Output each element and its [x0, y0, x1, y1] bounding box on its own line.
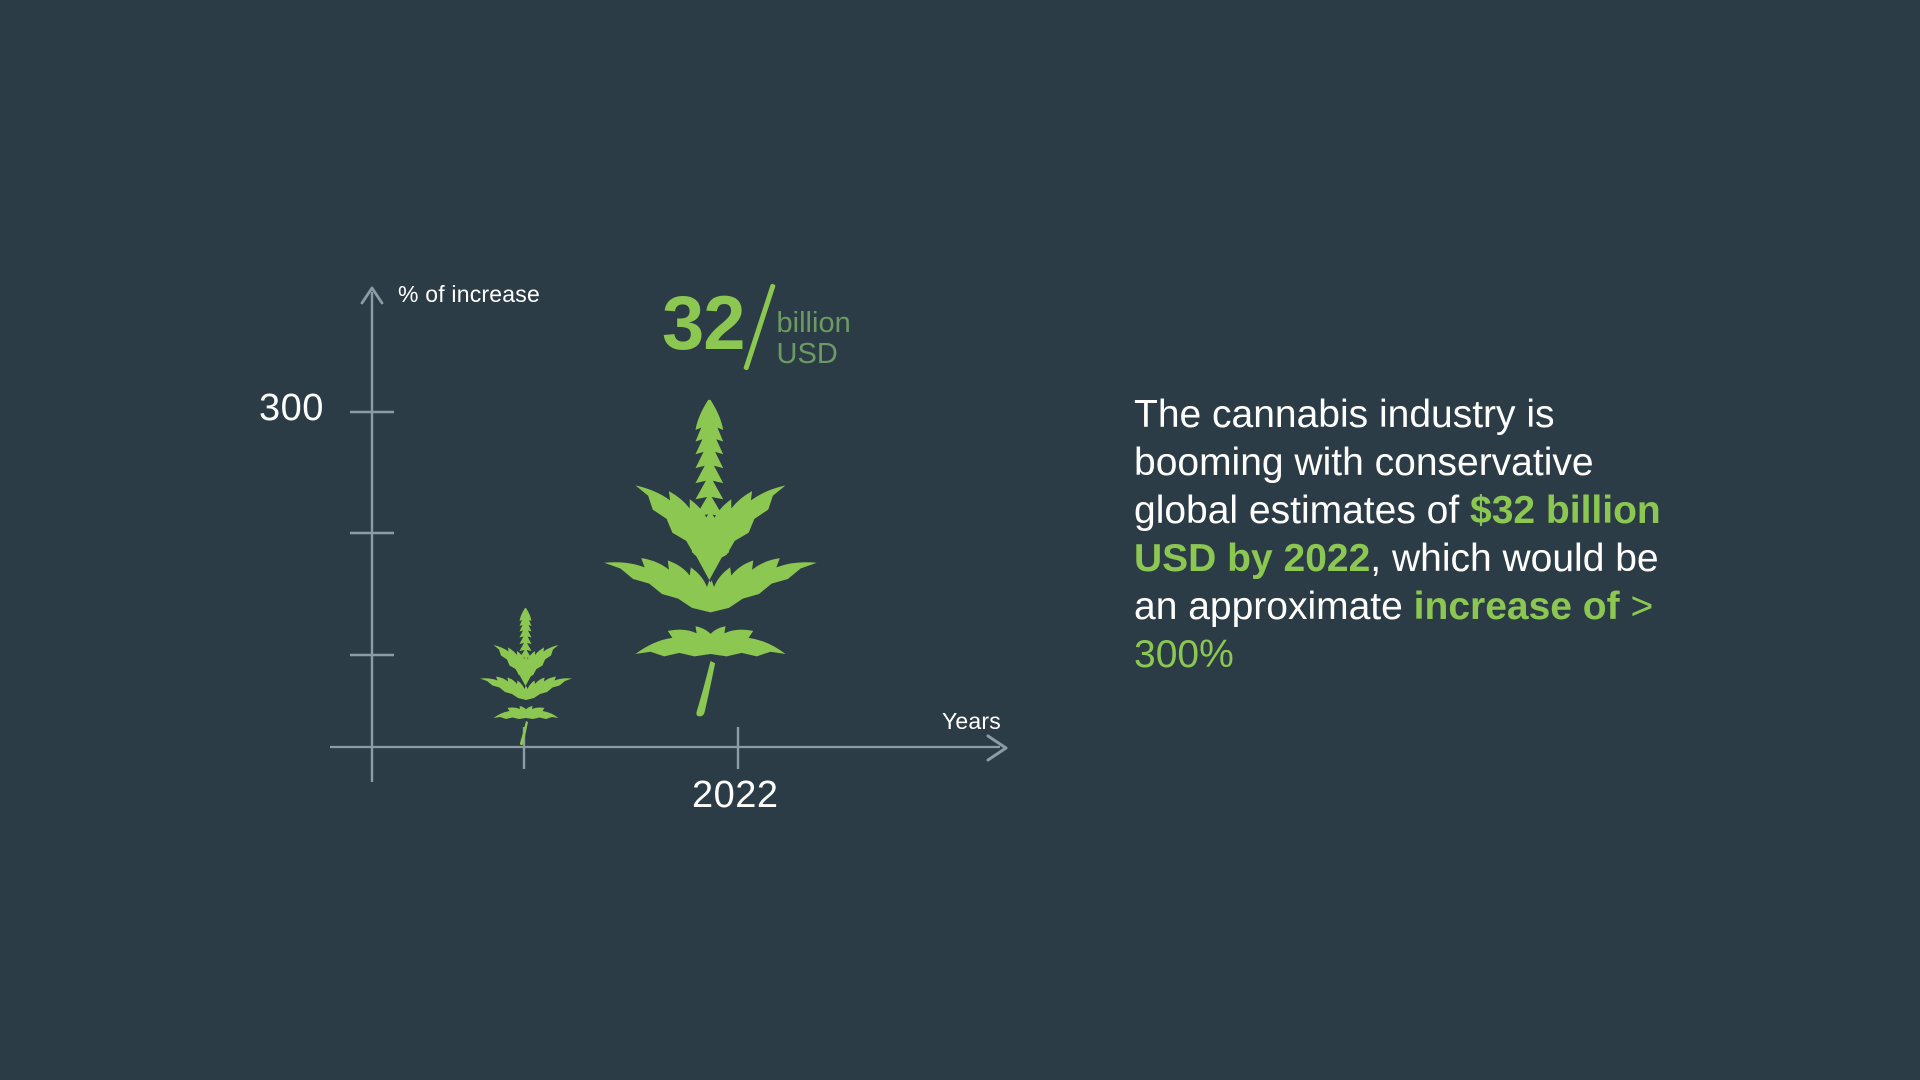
x-axis-caption: Years: [942, 708, 1001, 735]
y-axis-caption: % of increase: [398, 281, 540, 308]
cannabis-leaf-icon-small: [476, 605, 576, 747]
callout-unit-line2: USD: [777, 339, 851, 370]
narrative-panel: The cannabis industry is booming with co…: [1134, 352, 1694, 718]
narrative-highlight-increase: increase of: [1414, 585, 1620, 628]
chart-panel: % of increase Years 300 2022 32 billion …: [0, 0, 1050, 1080]
y-tick-label: 300: [259, 387, 324, 430]
x-tick-label: 2022: [692, 774, 779, 817]
callout-unit-line1: billion: [777, 308, 851, 339]
callout-number: 32: [662, 288, 745, 360]
callout-slash-icon: [745, 288, 775, 368]
value-callout: 32 billion USD: [662, 288, 851, 368]
callout-unit: billion USD: [777, 308, 851, 370]
narrative-paragraph: The cannabis industry is booming with co…: [1134, 391, 1694, 679]
cannabis-leaf-icon-large: [595, 393, 826, 721]
chart-axes-svg: [0, 0, 1050, 1080]
infographic-canvas: % of increase Years 300 2022 32 billion …: [0, 0, 1920, 1080]
